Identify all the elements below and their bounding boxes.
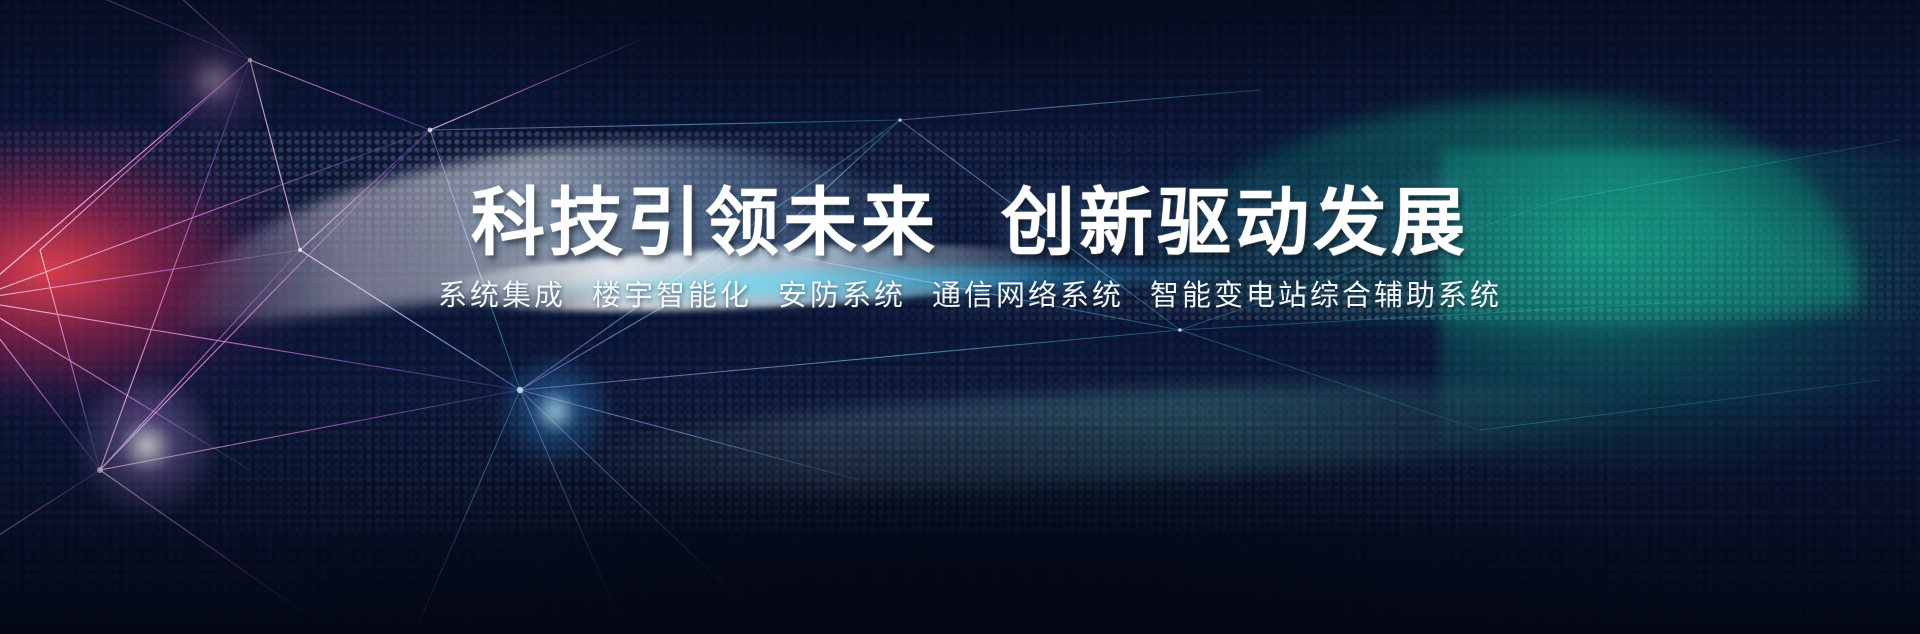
banner-subheadline: 系统集成楼宇智能化安防系统通信网络系统智能变电站综合辅助系统: [20, 282, 1920, 311]
subheadline-item-3: 通信网络系统: [932, 280, 1124, 312]
banner-headline: 科技引领未来创新驱动发展: [20, 186, 1920, 260]
vignette-overlay: [0, 0, 1920, 634]
subheadline-item-2: 安防系统: [778, 280, 906, 312]
subheadline-item-4: 智能变电站综合辅助系统: [1150, 280, 1502, 312]
hero-banner: 科技引领未来创新驱动发展 系统集成楼宇智能化安防系统通信网络系统智能变电站综合辅…: [0, 0, 1920, 634]
subheadline-item-0: 系统集成: [438, 280, 566, 312]
headline-phrase-1: 科技引领未来: [471, 181, 939, 264]
subheadline-item-1: 楼宇智能化: [592, 280, 752, 312]
headline-phrase-2: 创新驱动发展: [1001, 181, 1469, 264]
banner-copy: 科技引领未来创新驱动发展 系统集成楼宇智能化安防系统通信网络系统智能变电站综合辅…: [0, 186, 1920, 311]
